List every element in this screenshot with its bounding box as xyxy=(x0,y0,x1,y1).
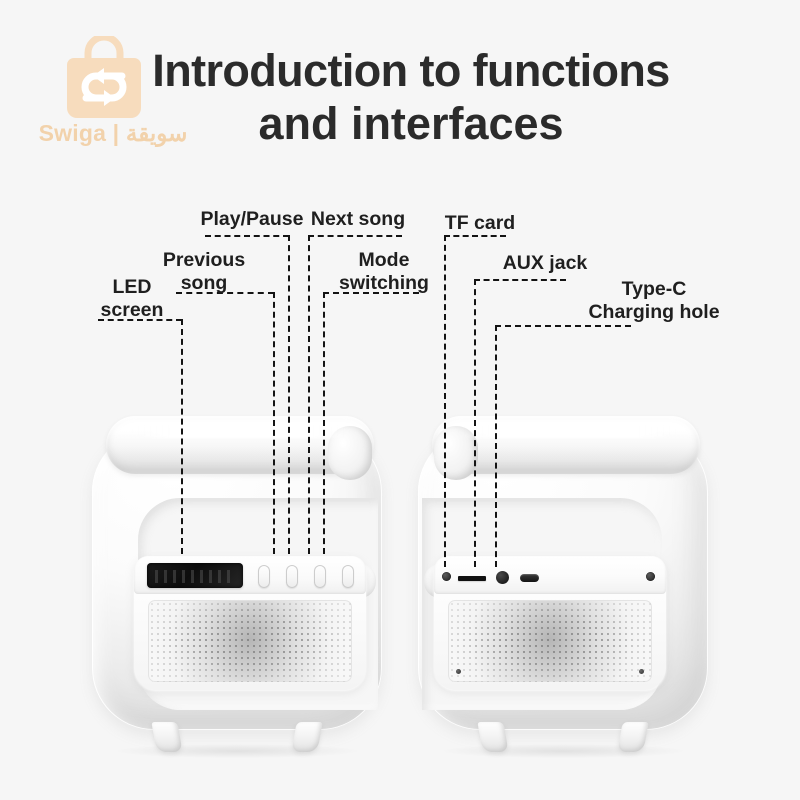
grille-screw-right xyxy=(639,669,644,674)
top-light-bar xyxy=(106,416,374,474)
callout-label-play-pause: Play/Pause xyxy=(191,208,313,231)
control-panel-top-strip xyxy=(134,556,366,594)
top-light-bar xyxy=(432,416,700,474)
light-bar-end-cap xyxy=(434,426,478,480)
panel-screw-left xyxy=(442,572,451,581)
callout-label-tf-card: TF card xyxy=(436,212,524,235)
type-c-charging-port[interactable] xyxy=(520,574,539,582)
callout-label-mode-switching: Mode switching xyxy=(330,249,438,295)
unit-ground-shadow xyxy=(116,744,358,758)
leader-previous-song-v xyxy=(273,292,275,554)
mode-switching-button[interactable] xyxy=(342,565,354,588)
leader-aux-jack-h xyxy=(474,279,566,281)
leader-mode-switching-v xyxy=(323,292,325,554)
speaker-grille xyxy=(148,600,352,682)
leader-type-c-v xyxy=(495,325,497,567)
leader-play-pause-v xyxy=(288,235,290,554)
callout-label-type-c: Type-C Charging hole xyxy=(586,278,722,324)
speaker-grille xyxy=(448,600,652,682)
tf-card-slot[interactable] xyxy=(458,576,486,581)
leader-play-pause-h xyxy=(205,235,289,237)
play-pause-button[interactable] xyxy=(286,565,298,588)
callout-label-previous-song: Previous song xyxy=(152,249,256,295)
leader-next-song-v xyxy=(308,235,310,554)
port-strip xyxy=(434,556,666,594)
previous-song-button[interactable] xyxy=(258,565,270,588)
back-port-panel xyxy=(434,556,666,690)
callout-label-aux-jack: AUX jack xyxy=(495,252,595,275)
light-bar-end-cap xyxy=(328,426,372,480)
title-line-1: Introduction to functions xyxy=(22,44,800,97)
back-view-speaker-lamp xyxy=(418,408,708,730)
page-title: Introduction to functions and interfaces xyxy=(0,44,800,150)
grille-screw-left xyxy=(456,669,461,674)
led-display xyxy=(147,563,243,588)
leader-type-c-h xyxy=(495,325,631,327)
aux-jack-port[interactable] xyxy=(496,571,509,584)
infographic-canvas: Swiga | سويقة Introduction to functions … xyxy=(0,0,800,800)
button-row xyxy=(258,564,354,588)
panel-screw-right xyxy=(646,572,655,581)
title-line-2: and interfaces xyxy=(22,97,800,150)
leader-led-screen-v xyxy=(181,319,183,554)
next-song-button[interactable] xyxy=(314,565,326,588)
callout-label-next-song: Next song xyxy=(306,208,410,231)
leader-tf-card-h xyxy=(444,235,506,237)
leader-next-song-h xyxy=(308,235,402,237)
front-view-speaker-lamp xyxy=(92,408,382,730)
unit-ground-shadow xyxy=(442,744,684,758)
leader-aux-jack-v xyxy=(474,279,476,567)
front-control-panel xyxy=(134,556,366,690)
leader-tf-card-v xyxy=(444,235,446,567)
